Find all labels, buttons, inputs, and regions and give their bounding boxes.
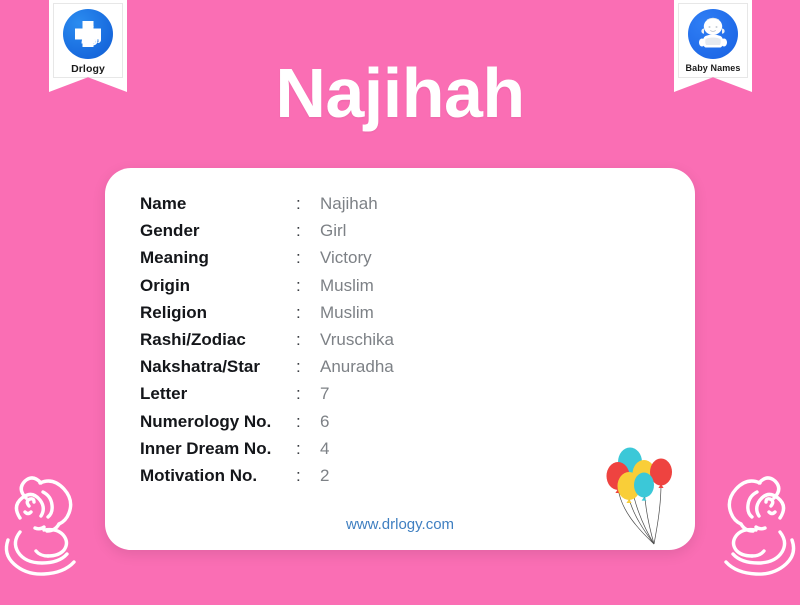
table-row: Rashi/Zodiac:Vruschika xyxy=(140,326,394,353)
table-row: Letter:7 xyxy=(140,380,394,407)
row-separator: : xyxy=(296,326,320,353)
table-row: Nakshatra/Star:Anuradha xyxy=(140,353,394,380)
row-label: Nakshatra/Star xyxy=(140,353,296,380)
row-separator: : xyxy=(296,272,320,299)
table-row: Gender:Girl xyxy=(140,217,394,244)
table-row: Origin:Muslim xyxy=(140,272,394,299)
row-label: Name xyxy=(140,190,296,217)
table-row: Numerology No.:6 xyxy=(140,408,394,435)
row-separator: : xyxy=(296,217,320,244)
row-separator: : xyxy=(296,462,320,489)
row-separator: : xyxy=(296,299,320,326)
row-label: Religion xyxy=(140,299,296,326)
row-separator: : xyxy=(296,408,320,435)
table-row: Meaning:Victory xyxy=(140,244,394,271)
row-label: Letter xyxy=(140,380,296,407)
row-separator: : xyxy=(296,190,320,217)
table-row: Inner Dream No.:4 xyxy=(140,435,394,462)
table-body: Name:NajihahGender:GirlMeaning:VictoryOr… xyxy=(140,190,394,489)
row-separator: : xyxy=(296,244,320,271)
baby-icon xyxy=(688,9,738,59)
row-label: Origin xyxy=(140,272,296,299)
row-label: Meaning xyxy=(140,244,296,271)
mother-and-baby-icon-left xyxy=(0,470,108,600)
row-value: Muslim xyxy=(320,272,394,299)
mother-and-baby-icon-right xyxy=(692,470,800,600)
name-details-table: Name:NajihahGender:GirlMeaning:VictoryOr… xyxy=(140,190,394,489)
row-label: Numerology No. xyxy=(140,408,296,435)
doctor-medical-cross-icon: p xyxy=(63,9,113,59)
page-title: Najihah xyxy=(0,58,800,128)
row-separator: : xyxy=(296,380,320,407)
row-separator: : xyxy=(296,353,320,380)
row-label: Gender xyxy=(140,217,296,244)
row-value: Victory xyxy=(320,244,394,271)
table-row: Religion:Muslim xyxy=(140,299,394,326)
row-value: Muslim xyxy=(320,299,394,326)
row-value: Girl xyxy=(320,217,394,244)
row-label: Rashi/Zodiac xyxy=(140,326,296,353)
row-value: Najihah xyxy=(320,190,394,217)
table-row: Motivation No.:2 xyxy=(140,462,394,489)
row-label: Motivation No. xyxy=(140,462,296,489)
balloons-icon xyxy=(599,440,687,550)
row-value: Vruschika xyxy=(320,326,394,353)
row-label: Inner Dream No. xyxy=(140,435,296,462)
row-value: 4 xyxy=(320,435,394,462)
row-separator: : xyxy=(296,435,320,462)
row-value: 2 xyxy=(320,462,394,489)
row-value: Anuradha xyxy=(320,353,394,380)
row-value: 7 xyxy=(320,380,394,407)
name-details-card: Name:NajihahGender:GirlMeaning:VictoryOr… xyxy=(105,168,695,550)
row-value: 6 xyxy=(320,408,394,435)
table-row: Name:Najihah xyxy=(140,190,394,217)
